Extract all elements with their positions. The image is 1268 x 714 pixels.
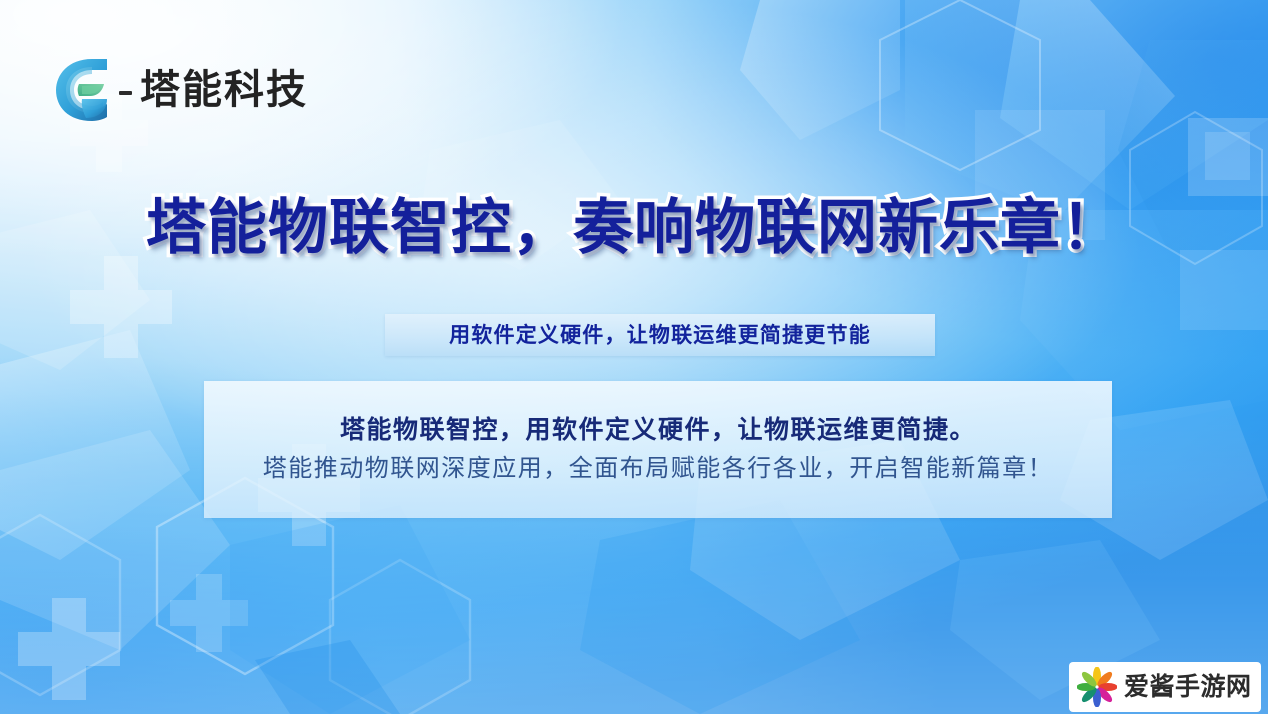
site-watermark[interactable]: 爱酱手游网	[1069, 662, 1261, 712]
description-line-1: 塔能物联智控，用软件定义硬件，让物联运维更简捷。	[340, 418, 976, 443]
poster-canvas: 塔能科技 塔能物联智控，奏响物联网新乐章！ 用软件定义硬件，让物联运维更简捷更节…	[0, 0, 1268, 714]
brand-logo[interactable]: 塔能科技	[52, 55, 308, 125]
description-line-2: 塔能推动物联网深度应用，全面布局赋能各行各业，开启智能新篇章！	[263, 457, 1054, 481]
brand-separator-dash	[119, 91, 132, 95]
brand-name: 塔能科技	[140, 70, 308, 110]
subtitle-text: 用软件定义硬件，让物联运维更简捷更节能	[449, 325, 871, 346]
tanneng-leaf-e-logo-icon	[52, 55, 110, 125]
colorful-pinwheel-flower-icon	[1077, 667, 1117, 707]
subtitle-banner: 用软件定义硬件，让物联运维更简捷更节能	[385, 314, 935, 356]
description-card: 塔能物联智控，用软件定义硬件，让物联运维更简捷。 塔能推动物联网深度应用，全面布…	[204, 381, 1112, 518]
watermark-label: 爱酱手游网	[1124, 675, 1252, 700]
page-title: 塔能物联智控，奏响物联网新乐章！	[0, 196, 1268, 259]
